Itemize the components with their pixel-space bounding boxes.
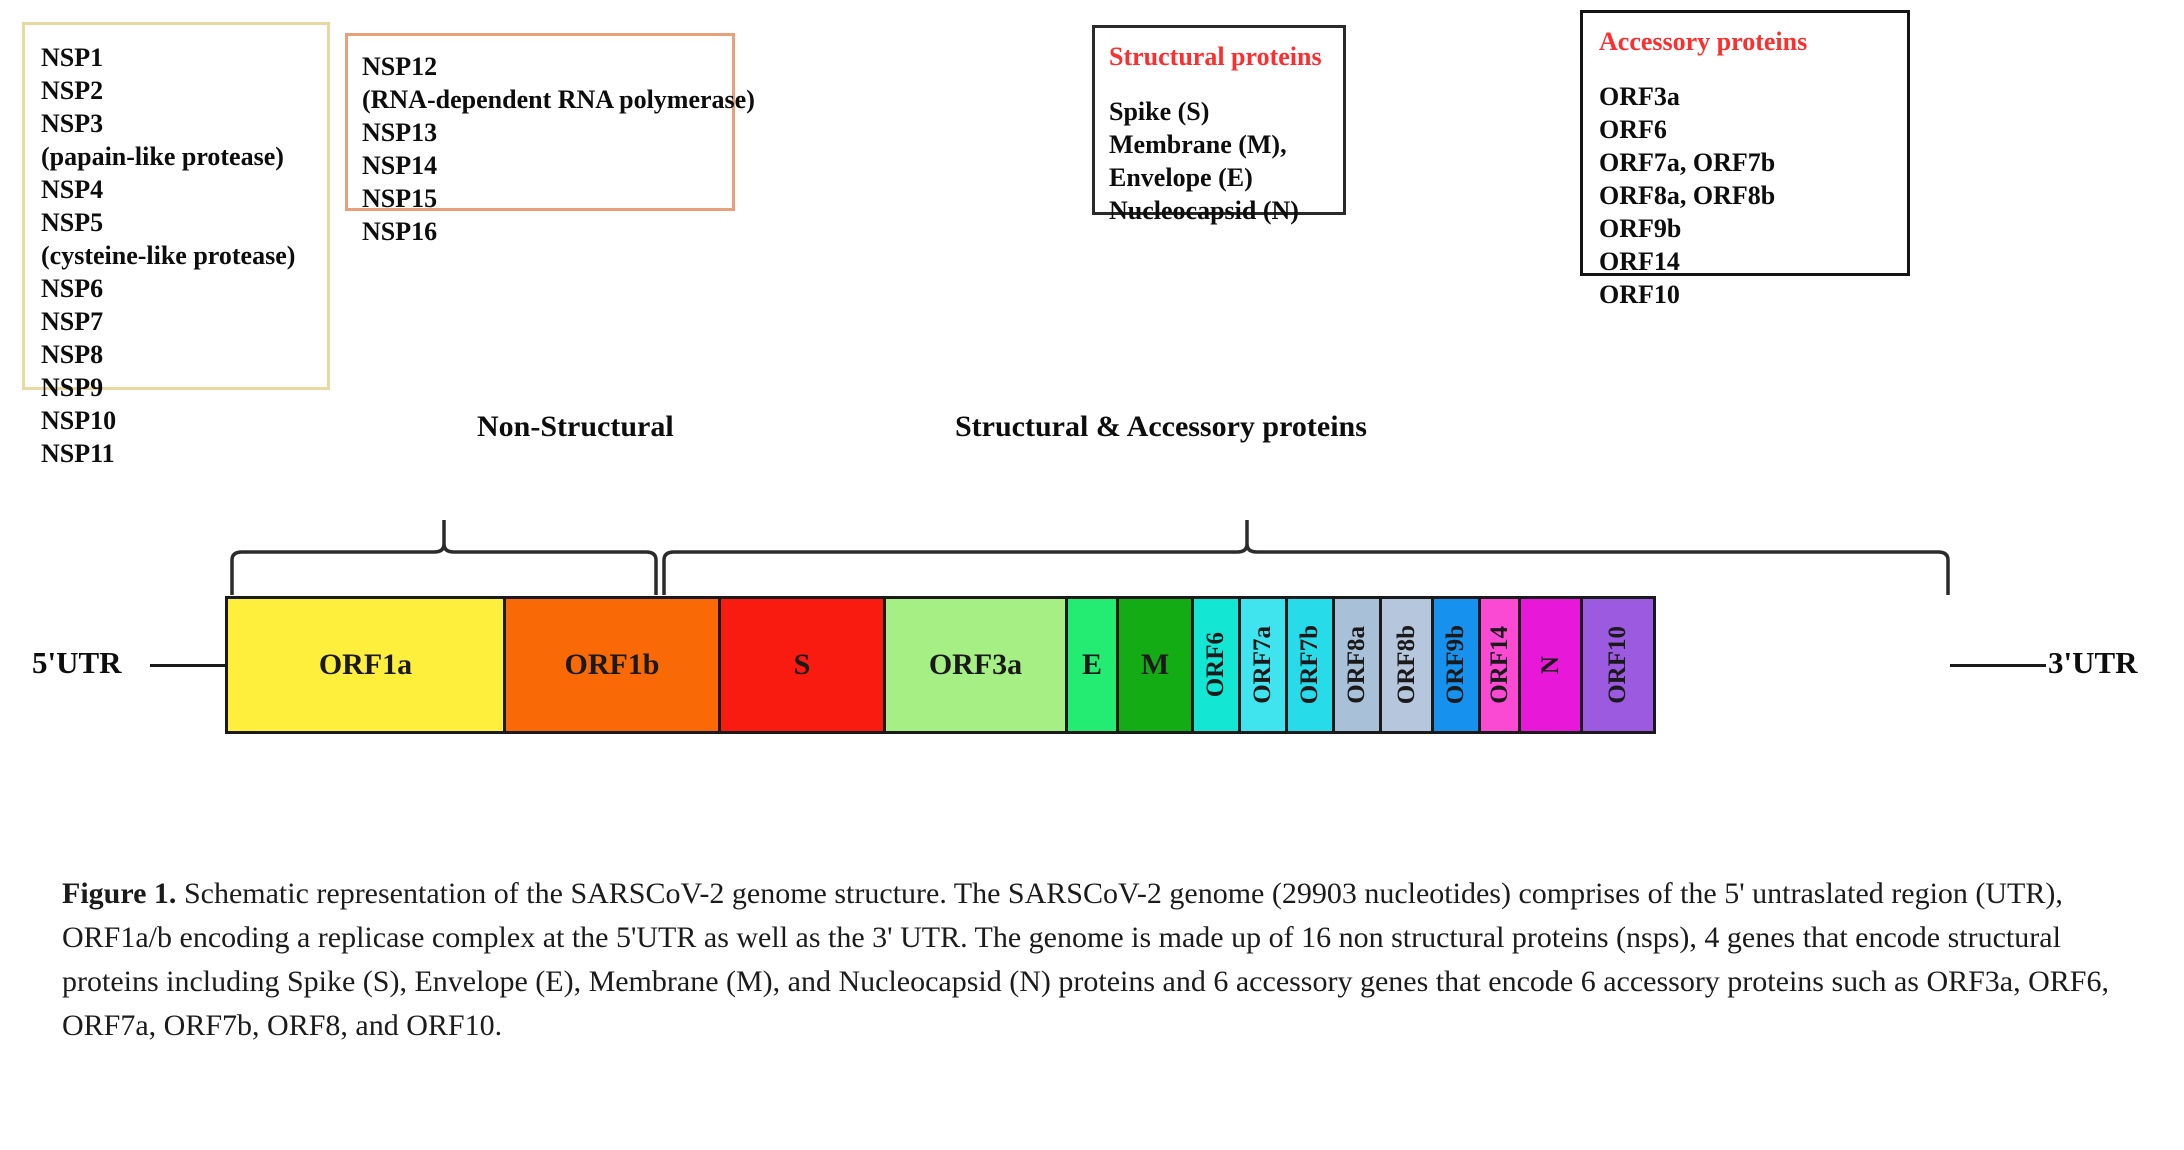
header-non-structural: Non-Structural (477, 410, 674, 444)
gene-segment-orf3a[interactable]: ORF3a (886, 599, 1068, 731)
gene-segment-orf1a[interactable]: ORF1a (228, 599, 506, 731)
legend-line: NSP14 (362, 149, 732, 182)
gene-label: ORF8a (1343, 626, 1371, 704)
gene-label: M (1141, 648, 1169, 682)
gene-label: ORF3a (929, 648, 1022, 682)
gene-label: ORF7a (1249, 626, 1277, 704)
header-structural-accessory: Structural & Accessory proteins (955, 410, 1367, 444)
gene-segment-orf14[interactable]: ORF14 (1481, 599, 1521, 731)
gene-segment-s[interactable]: S (721, 599, 886, 731)
gene-label: N (1537, 656, 1565, 674)
legend-line: NSP10 (41, 404, 327, 437)
brace-group (0, 460, 2184, 610)
legend-line: ORF9b (1599, 212, 1907, 245)
gene-label: ORF8b (1393, 625, 1421, 704)
gene-label: ORF10 (1604, 626, 1632, 704)
gene-segment-orf8b[interactable]: ORF8b (1382, 599, 1434, 731)
spacer (1109, 73, 1343, 95)
leader-line-right (1950, 664, 2046, 667)
gene-segment-orf1b[interactable]: ORF1b (506, 599, 721, 731)
gene-label: ORF1a (319, 648, 412, 682)
legend-line: ORF14 (1599, 245, 1907, 278)
gene-label: ORF9b (1442, 625, 1470, 704)
legend-line: NSP4 (41, 173, 327, 206)
legend-line: NSP9 (41, 371, 327, 404)
legend-line: NSP3 (41, 107, 327, 140)
gene-label: ORF6 (1202, 632, 1230, 697)
legend-line: NSP16 (362, 215, 732, 248)
legend-box-accessory-proteins: Accessory proteins ORF3a ORF6 ORF7a, ORF… (1580, 10, 1910, 276)
legend-line: Nucleocapsid (N) (1109, 194, 1343, 227)
gene-segment-orf9b[interactable]: ORF9b (1434, 599, 1481, 731)
leader-line-left (150, 664, 228, 667)
legend-line: NSP2 (41, 74, 327, 107)
gene-segment-orf7b[interactable]: ORF7b (1288, 599, 1335, 731)
gene-segment-e[interactable]: E (1068, 599, 1119, 731)
brace-non-structural (232, 520, 656, 595)
legend-box-structural-proteins: Structural proteins Spike (S) Membrane (… (1092, 25, 1346, 215)
gene-label: E (1082, 648, 1102, 682)
gene-segment-orf8a[interactable]: ORF8a (1335, 599, 1382, 731)
legend-line: NSP6 (41, 272, 327, 305)
legend-line: ORF8a, ORF8b (1599, 179, 1907, 212)
legend-title-structural: Structural proteins (1109, 40, 1343, 73)
legend-box-nsp-1-11: NSP1 NSP2 NSP3 (papain-like protease) NS… (22, 22, 330, 390)
legend-line: Envelope (E) (1109, 161, 1343, 194)
gene-segment-m[interactable]: M (1119, 599, 1194, 731)
legend-line: ORF3a (1599, 80, 1907, 113)
legend-line: Spike (S) (1109, 95, 1343, 128)
legend-line: Membrane (M), (1109, 128, 1343, 161)
gene-label: ORF14 (1486, 626, 1514, 704)
legend-line: (cysteine-like protease) (41, 239, 327, 272)
gene-label: S (794, 648, 811, 682)
spacer (1599, 58, 1907, 80)
genome-bar: ORF1a ORF1b S ORF3a E M ORF6 ORF7a ORF7b… (225, 596, 1656, 734)
utr-3-prime-label: 3'UTR (2048, 645, 2138, 681)
gene-label: ORF7b (1296, 625, 1324, 704)
figure-caption: Figure 1. Schematic representation of th… (62, 872, 2122, 1048)
gene-segment-orf7a[interactable]: ORF7a (1241, 599, 1288, 731)
legend-line: NSP15 (362, 182, 732, 215)
legend-line: NSP8 (41, 338, 327, 371)
brace-structural-accessory (664, 520, 1948, 595)
gene-segment-n[interactable]: N (1521, 599, 1583, 731)
legend-title-accessory: Accessory proteins (1599, 25, 1907, 58)
legend-line: ORF10 (1599, 278, 1907, 311)
legend-line: NSP5 (41, 206, 327, 239)
figure-canvas: NSP1 NSP2 NSP3 (papain-like protease) NS… (0, 0, 2184, 1150)
gene-segment-orf10[interactable]: ORF10 (1583, 599, 1653, 731)
legend-line: NSP12 (362, 50, 732, 83)
legend-line: (papain-like protease) (41, 140, 327, 173)
figure-caption-label: Figure 1. (62, 877, 176, 910)
gene-segment-orf6[interactable]: ORF6 (1194, 599, 1241, 731)
utr-5-prime-label: 5'UTR (32, 645, 122, 681)
gene-label: ORF1b (564, 648, 659, 682)
legend-line: NSP13 (362, 116, 732, 149)
legend-box-nsp-12-16: NSP12 (RNA-dependent RNA polymerase) NSP… (345, 33, 735, 211)
legend-line: NSP1 (41, 41, 327, 74)
legend-line: NSP7 (41, 305, 327, 338)
legend-line: ORF6 (1599, 113, 1907, 146)
legend-line: (RNA-dependent RNA polymerase) (362, 83, 732, 116)
figure-caption-text: Schematic representation of the SARSCoV-… (62, 877, 2109, 1042)
legend-line: ORF7a, ORF7b (1599, 146, 1907, 179)
